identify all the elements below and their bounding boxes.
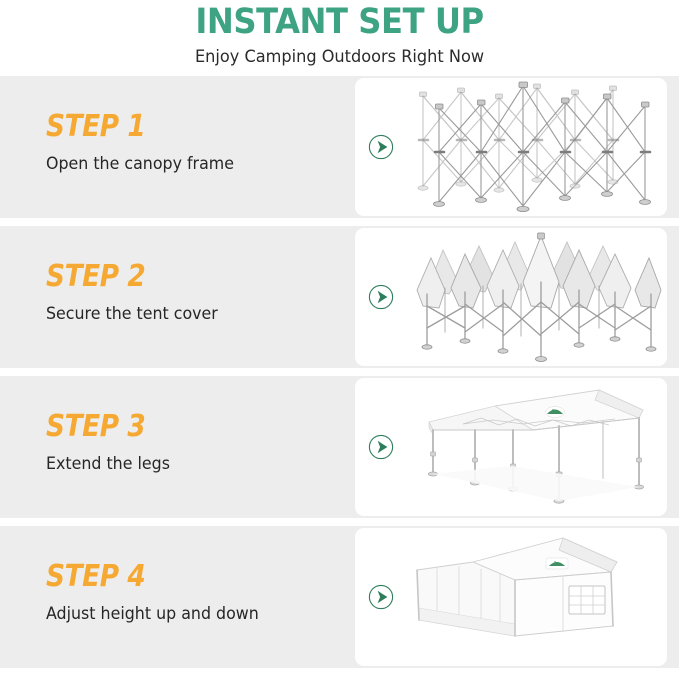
step-row: STEP 4 Adjust height up and down: [0, 526, 679, 668]
step-label: STEP 1: [46, 110, 310, 144]
page-subtitle: Enjoy Camping Outdoors Right Now: [17, 45, 662, 69]
step-image-card: [355, 228, 667, 366]
step-description: Open the canopy frame: [46, 153, 334, 175]
step-row: STEP 3 Extend the legs: [0, 376, 679, 518]
play-circle-icon: [368, 284, 394, 310]
step-text-block: STEP 4 Adjust height up and down: [46, 560, 346, 625]
canopy-legs-extended-illustration: [403, 378, 667, 516]
canopy-frame-expanded-illustration: [403, 78, 667, 216]
play-circle-icon: [368, 584, 394, 610]
step-image-card: [355, 378, 667, 516]
steps-list: STEP 1 Open the canopy frame: [0, 76, 679, 668]
step-row: STEP 2 Secure the tent cover: [0, 226, 679, 368]
page-title: INSTANT SET UP: [27, 2, 652, 42]
step-description: Secure the tent cover: [46, 303, 334, 325]
step-label: STEP 3: [46, 410, 310, 444]
page-header: INSTANT SET UP Enjoy Camping Outdoors Ri…: [0, 0, 679, 76]
play-circle-icon: [368, 134, 394, 160]
step-text-block: STEP 1 Open the canopy frame: [46, 110, 346, 175]
step-label: STEP 2: [46, 260, 310, 294]
step-description: Extend the legs: [46, 453, 334, 475]
step-description: Adjust height up and down: [46, 603, 334, 625]
step-row: STEP 1 Open the canopy frame: [0, 76, 679, 218]
canopy-with-sidewalls-illustration: [403, 528, 667, 666]
step-label: STEP 4: [46, 560, 310, 594]
step-image-card: [355, 528, 667, 666]
step-image-card: [355, 78, 667, 216]
canopy-frame-with-cover-illustration: [403, 228, 667, 366]
play-circle-icon: [368, 434, 394, 460]
step-text-block: STEP 3 Extend the legs: [46, 410, 346, 475]
step-text-block: STEP 2 Secure the tent cover: [46, 260, 346, 325]
